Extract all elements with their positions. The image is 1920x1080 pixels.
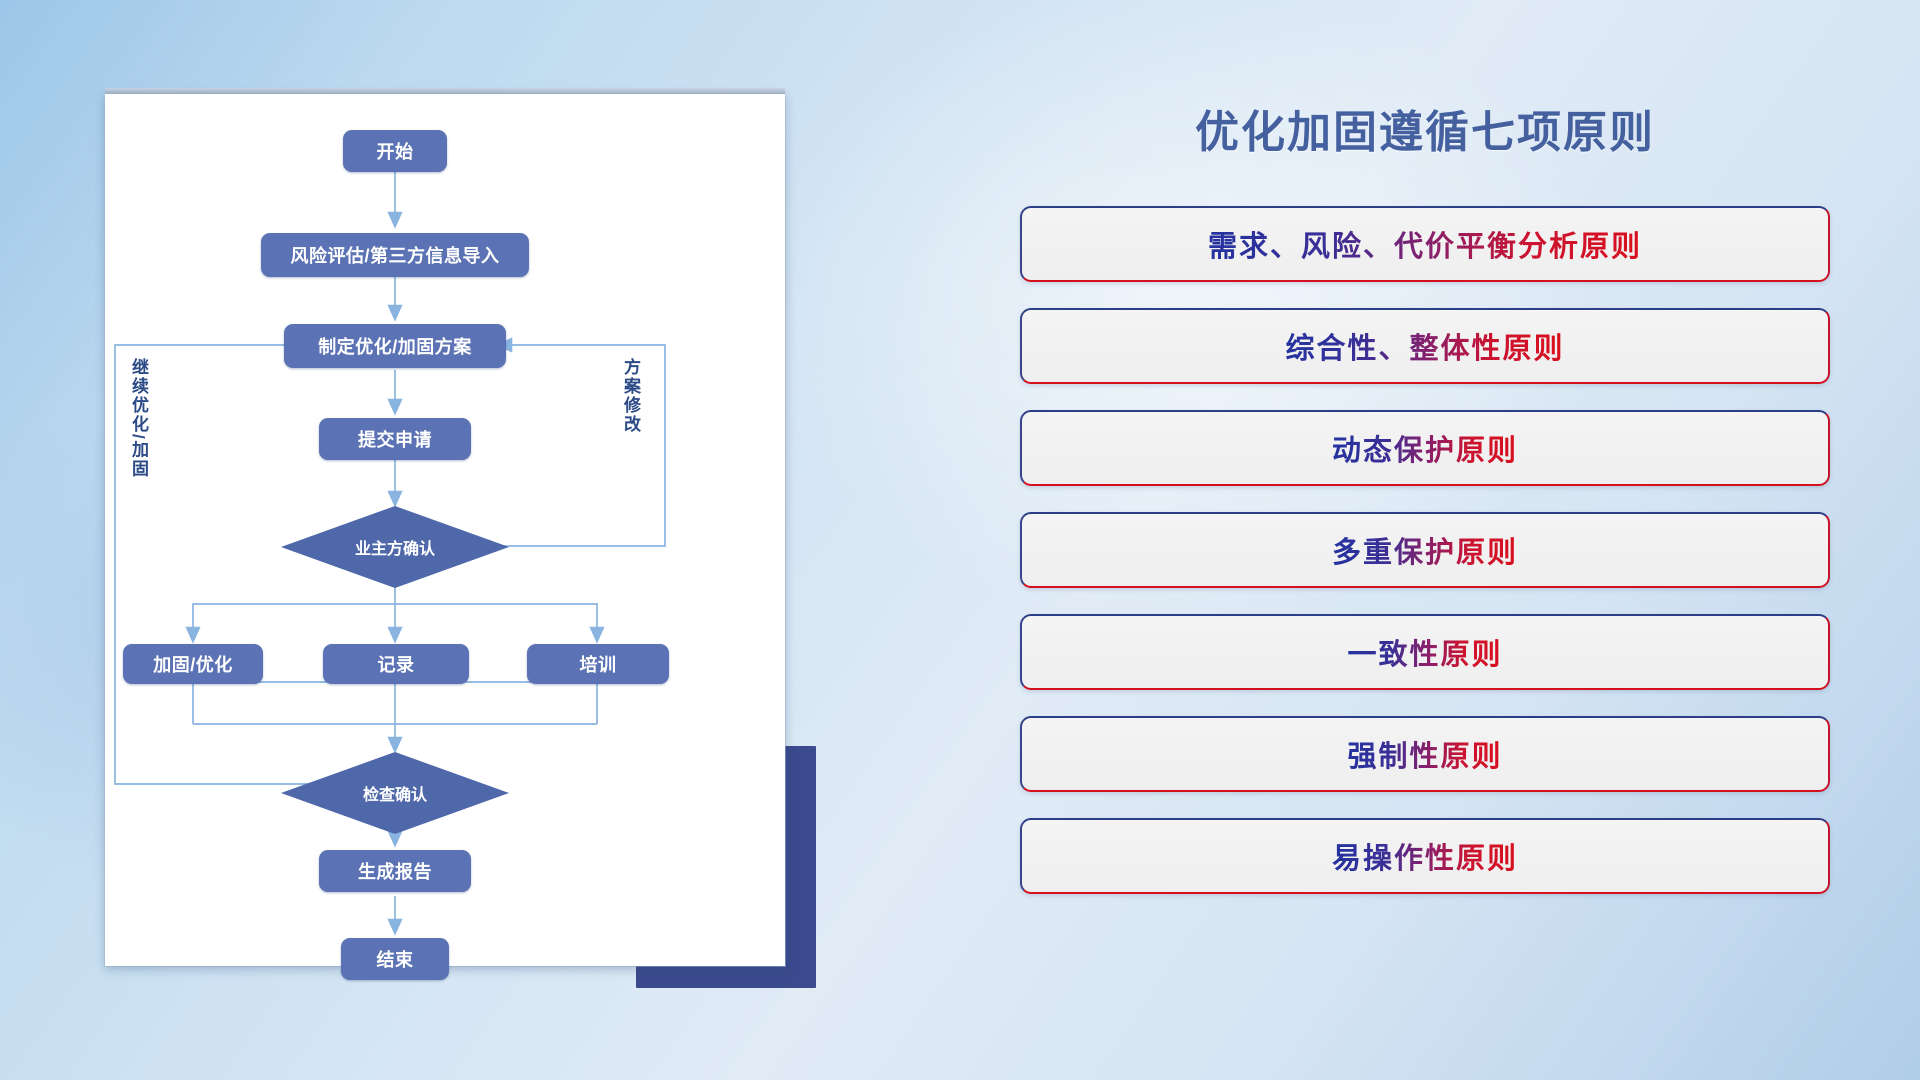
flow-node-submit-application[interactable]: 提交申请	[319, 418, 471, 460]
principle-item[interactable]: 多重保护原则	[1020, 512, 1830, 588]
flow-edge-label-continue-optimize: 继续优化/加固	[129, 358, 147, 479]
flow-node-plan[interactable]: 制定优化/加固方案	[284, 324, 506, 368]
panel-title: 优化加固遵循七项原则	[1020, 96, 1830, 160]
principles-panel: 优化加固遵循七项原则 需求、风险、代价平衡分析原则 综合性、整体性原则 动态保护…	[1020, 96, 1830, 894]
principle-item[interactable]: 需求、风险、代价平衡分析原则	[1020, 206, 1830, 282]
principle-item[interactable]: 一致性原则	[1020, 614, 1830, 690]
principles-list: 需求、风险、代价平衡分析原则 综合性、整体性原则 动态保护原则 多重保护原则 一…	[1020, 206, 1830, 894]
flow-node-end[interactable]: 结束	[341, 938, 449, 980]
principle-item[interactable]: 强制性原则	[1020, 716, 1830, 792]
flow-node-reinforce[interactable]: 加固/优化	[123, 644, 263, 684]
principle-item[interactable]: 动态保护原则	[1020, 410, 1830, 486]
principle-label: 需求、风险、代价平衡分析原则	[1208, 223, 1642, 265]
flow-node-record[interactable]: 记录	[323, 644, 469, 684]
flow-node-generate-report[interactable]: 生成报告	[319, 850, 471, 892]
flow-edge-label-plan-revision: 方案修改	[621, 358, 639, 434]
principle-label: 多重保护原则	[1332, 529, 1518, 571]
principle-item[interactable]: 综合性、整体性原则	[1020, 308, 1830, 384]
flow-node-risk-assessment[interactable]: 风险评估/第三方信息导入	[261, 233, 529, 277]
flow-node-start[interactable]: 开始	[343, 130, 447, 172]
principle-item[interactable]: 易操作性原则	[1020, 818, 1830, 894]
flow-node-training[interactable]: 培训	[527, 644, 669, 684]
principle-label: 强制性原则	[1347, 733, 1502, 775]
flowchart: 开始 风险评估/第三方信息导入 制定优化/加固方案 提交申请 业主方确认 加固/…	[105, 94, 785, 966]
principle-label: 综合性、整体性原则	[1285, 325, 1564, 367]
principle-label: 易操作性原则	[1332, 835, 1518, 877]
principle-label: 动态保护原则	[1332, 427, 1518, 469]
flowchart-card: 开始 风险评估/第三方信息导入 制定优化/加固方案 提交申请 业主方确认 加固/…	[105, 94, 785, 966]
slide-canvas: 开始 风险评估/第三方信息导入 制定优化/加固方案 提交申请 业主方确认 加固/…	[0, 0, 1920, 1080]
principle-label: 一致性原则	[1347, 631, 1502, 673]
